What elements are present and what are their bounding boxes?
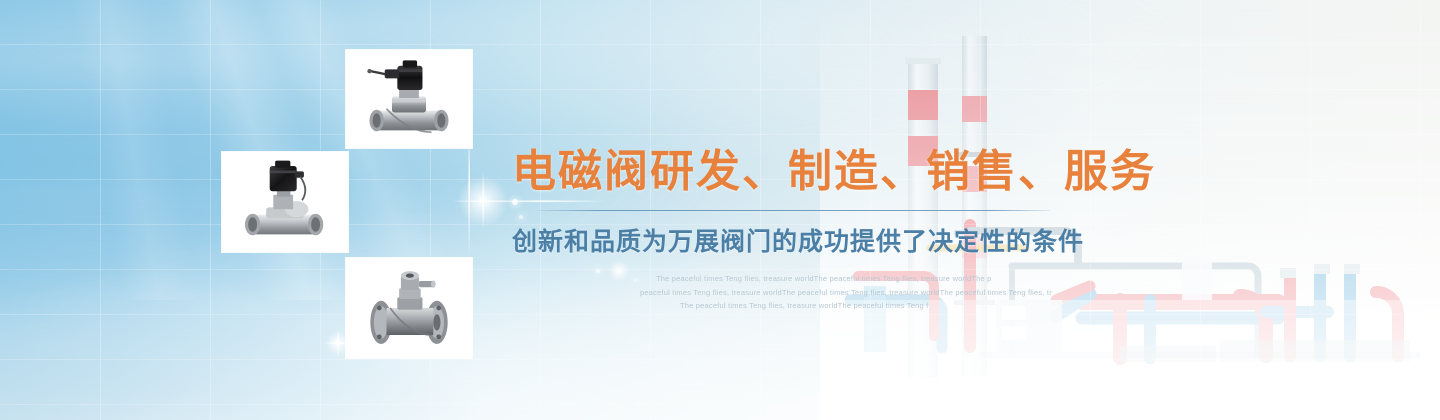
banner-subtitle: 创新和品质为万展阀门的成功提供了决定性的条件: [512, 222, 1112, 258]
product-thumbnail-1[interactable]: [346, 50, 472, 148]
product-thumbnail-3[interactable]: [346, 258, 472, 358]
banner-text-block: 电磁阀研发、制造、销售、服务 创新和品质为万展阀门的成功提供了决定性的条件 Th…: [512, 148, 1112, 312]
promo-banner: 电磁阀研发、制造、销售、服务 创新和品质为万展阀门的成功提供了决定性的条件 Th…: [0, 0, 1440, 420]
banner-title: 电磁阀研发、制造、销售、服务: [512, 148, 1112, 196]
product-thumbnail-2[interactable]: [222, 152, 348, 252]
fine-print-line: peaceful times Teng flies, treasure worl…: [640, 286, 1112, 299]
title-divider: [538, 210, 1050, 211]
fine-print-block: The peaceful times Teng flies, treasure …: [512, 272, 1112, 311]
product-image-2: [227, 157, 343, 247]
fine-print-line: The peaceful times Teng flies, treasure …: [680, 299, 1112, 312]
product-image-3: [351, 263, 467, 353]
product-image-1: [351, 55, 467, 143]
fine-print-line: The peaceful times Teng flies, treasure …: [656, 272, 1112, 285]
